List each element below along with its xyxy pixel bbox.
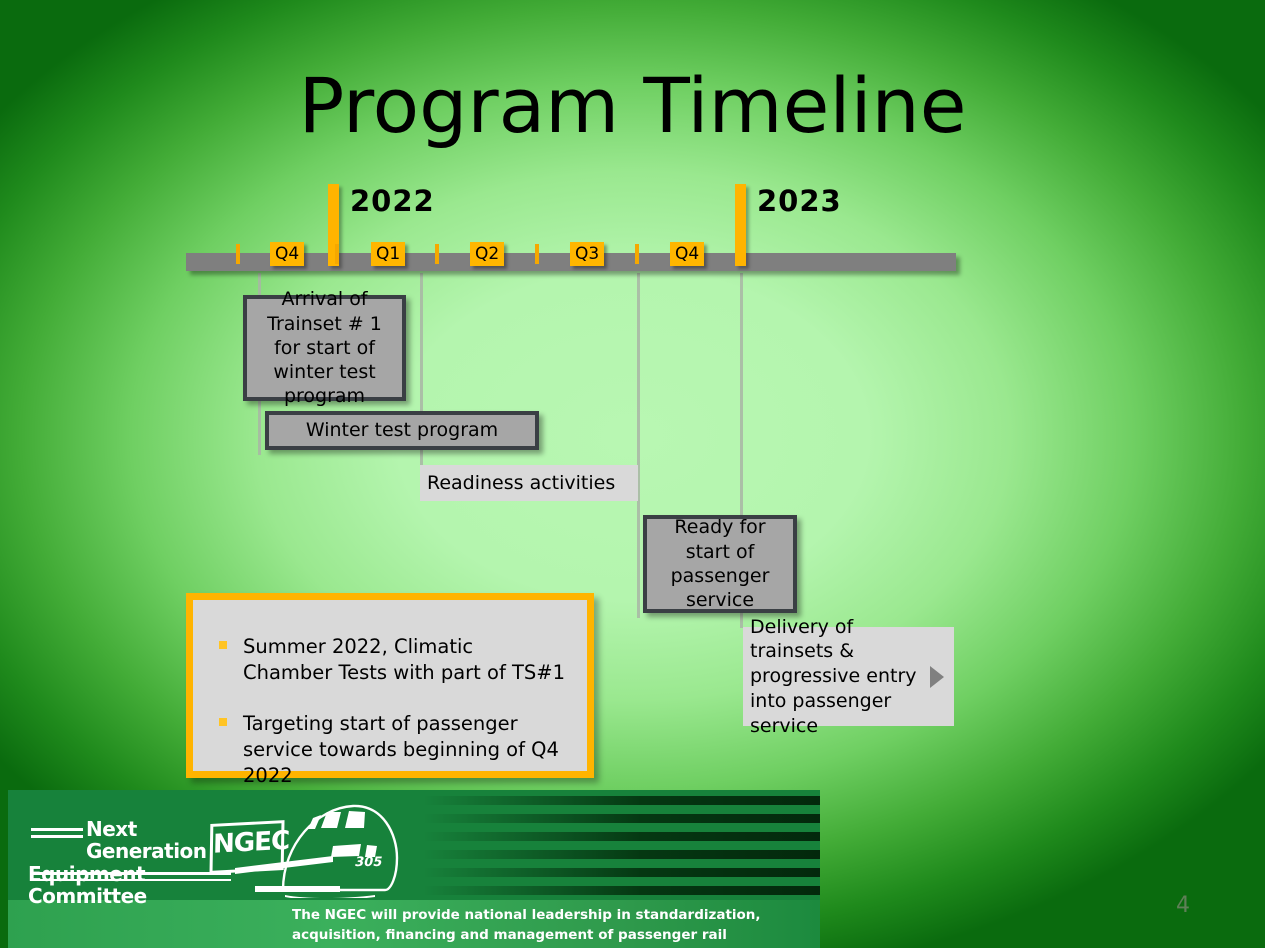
year-label-2023: 2023 <box>757 184 842 218</box>
footer-stripe <box>423 814 820 823</box>
milestone-delivery-of-trainsets[interactable]: Delivery of trainsets & progressive entr… <box>743 627 954 726</box>
list-item: Summer 2022, Climatic Chamber Tests with… <box>215 634 567 685</box>
gridline-q4-2022 <box>637 273 640 618</box>
train-number-label: 305 <box>353 855 383 870</box>
quarter-label-q3-2022: Q3 <box>570 242 604 266</box>
footer-stripe <box>423 832 820 841</box>
quarter-tick <box>236 244 240 264</box>
quarter-tick <box>435 244 439 264</box>
milestone-winter-test-program[interactable]: Winter test program <box>265 411 539 450</box>
callout-bullet-text: Targeting start of passenger service tow… <box>243 712 559 786</box>
quarter-tick <box>535 244 539 264</box>
milestone-arrival-trainset[interactable]: Arrival of Trainset # 1 for start of win… <box>243 295 406 401</box>
footer-stripe <box>423 796 820 805</box>
milestone-delivery-text: Delivery of trainsets & progressive entr… <box>750 615 928 738</box>
logo-rule <box>31 872 231 875</box>
tagline-line-2: acquisition, financing and management of… <box>292 926 812 948</box>
ngec-badge-label: NGEC <box>213 826 282 860</box>
footer-tagline: The NGEC will provide national leadershi… <box>292 906 812 948</box>
arrow-right-icon <box>930 666 944 688</box>
bullet-square-icon <box>219 641 227 649</box>
footer-stripe <box>423 886 820 895</box>
milestone-ready-for-start[interactable]: Ready for start of passenger service <box>643 515 797 613</box>
quarter-tick <box>335 244 339 264</box>
quarter-tick <box>635 244 639 264</box>
slide-canvas: Program Timeline 2022 2023 Q4 Q1 Q2 Q3 Q… <box>0 0 1265 948</box>
milestone-readiness-activities[interactable]: Readiness activities <box>420 465 638 501</box>
page-title: Program Timeline <box>0 68 1265 144</box>
quarter-label-q1-2022: Q1 <box>371 242 405 266</box>
bullet-square-icon <box>219 718 227 726</box>
footer-stripe <box>423 850 820 859</box>
callout-bullet-text: Summer 2022, Climatic Chamber Tests with… <box>243 635 565 684</box>
list-item: Targeting start of passenger service tow… <box>215 711 567 788</box>
tagline-line-1: The NGEC will provide national leadershi… <box>292 906 812 926</box>
ngec-badge: NGEC <box>209 820 284 874</box>
quarter-label-q2-2022: Q2 <box>470 242 504 266</box>
footer-stripe <box>423 868 820 877</box>
callout-box: Summer 2022, Climatic Chamber Tests with… <box>186 593 594 778</box>
page-number: 4 <box>1176 893 1190 918</box>
quarter-label-q4-2022: Q4 <box>670 242 704 266</box>
year-label-2022: 2022 <box>350 184 435 218</box>
quarter-label-q4-2021: Q4 <box>270 242 304 266</box>
logo-rule <box>31 879 231 881</box>
callout-bullet-list: Summer 2022, Climatic Chamber Tests with… <box>193 600 587 789</box>
year-marker-2023 <box>735 184 746 266</box>
